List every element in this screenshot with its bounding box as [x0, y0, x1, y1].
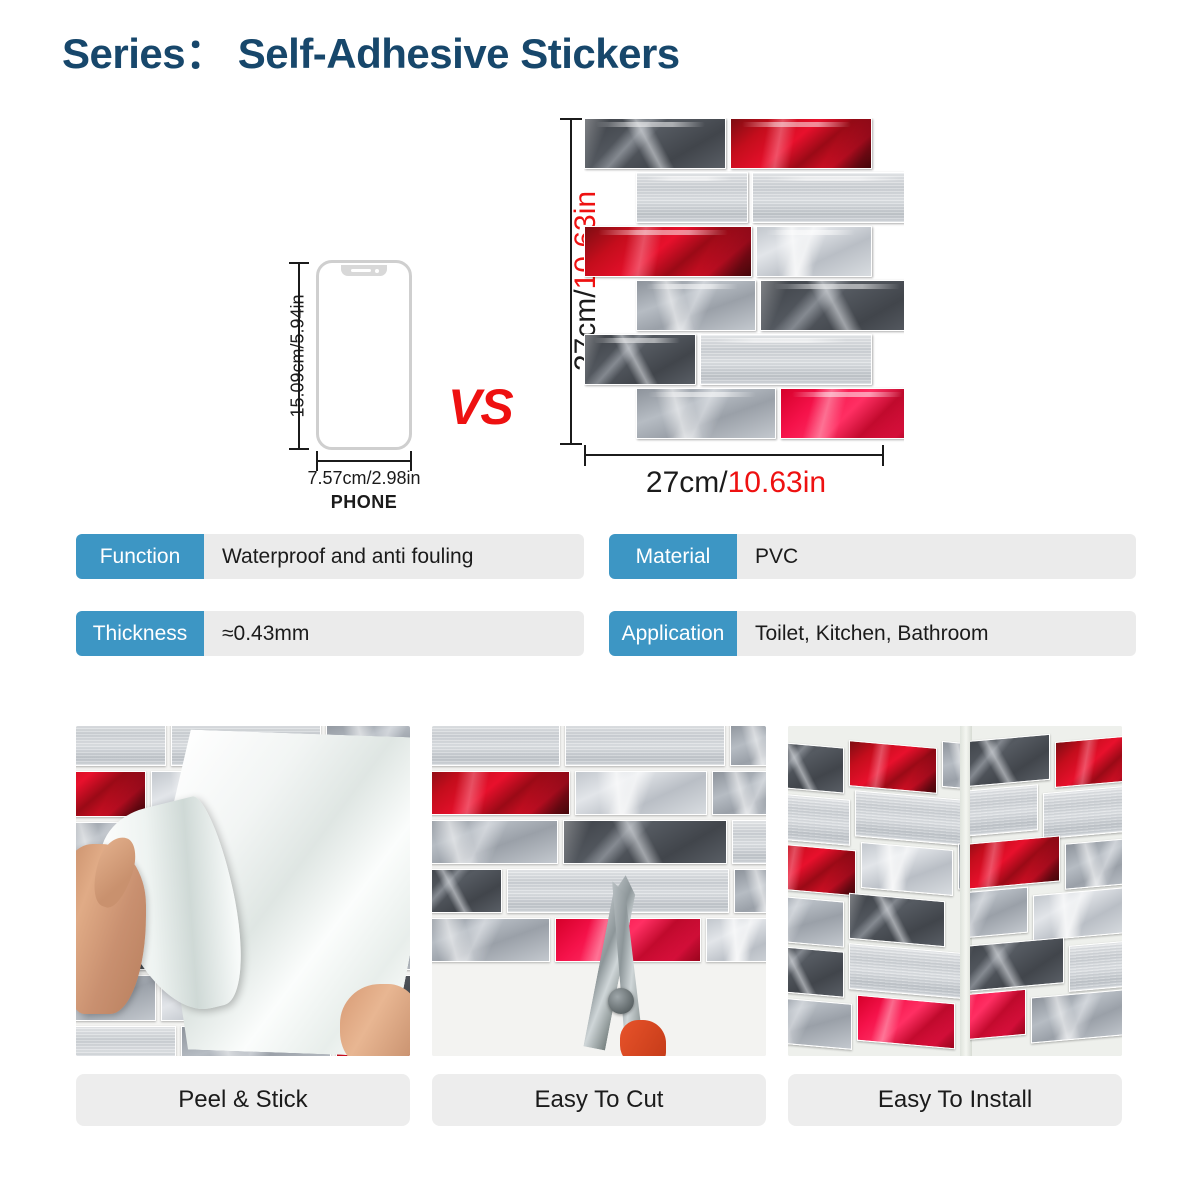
tile-row — [584, 334, 904, 385]
mosaic-tile-darkgray — [760, 280, 904, 331]
spec-value-material: PVC — [737, 534, 1136, 579]
product-infographic-page: Series： Self-Adhesive Stickers 15.09cm/5… — [0, 0, 1200, 1200]
spec-key-thickness: Thickness — [76, 611, 204, 656]
photo3-wall-right — [970, 726, 1122, 1056]
spec-row-thickness: Thickness ≈0.43mm — [76, 611, 584, 656]
phone-width-label: 7.57cm/2.98in — [258, 468, 470, 489]
phone-camera-icon — [375, 269, 379, 273]
mosaic-tile-brightred — [780, 388, 904, 439]
photo-peel-and-stick — [76, 726, 410, 1056]
photo-tile-silver — [565, 726, 725, 766]
mosaic-tile-red — [584, 226, 752, 277]
photo-tile-brightred — [857, 995, 955, 1050]
product-width-cap-right — [882, 445, 884, 466]
spec-key-application: Application — [609, 611, 737, 656]
product-width-cap-left — [584, 445, 586, 466]
product-width-cm: 27cm/ — [646, 466, 728, 499]
photo-tile-lightgray — [706, 918, 766, 962]
photo-tile-silver — [432, 726, 560, 766]
caption-easy-to-cut: Easy To Cut — [432, 1074, 766, 1126]
photo-tile-gray — [712, 771, 766, 815]
product-height-cap-bottom — [560, 443, 582, 445]
phone-height-cap-top — [289, 262, 309, 264]
feature-easy-to-install: Easy To Install — [788, 726, 1122, 1130]
product-width-label: 27cm/10.63in — [566, 466, 906, 500]
mosaic-tile-darkgray — [584, 334, 696, 385]
photo-tile-darkgray — [432, 869, 502, 913]
spec-value-application: Toilet, Kitchen, Bathroom — [737, 611, 1136, 656]
photo-tile-darkgray — [563, 820, 727, 864]
photo-tile-red — [432, 771, 570, 815]
vs-label: VS — [448, 378, 513, 436]
photo-tile-gray — [734, 869, 766, 913]
page-title: Series： Self-Adhesive Stickers — [62, 20, 680, 81]
photo-tile-lightgray — [1033, 887, 1122, 942]
mosaic-tile-silver — [752, 172, 904, 223]
photo-tile-silver — [970, 784, 1038, 839]
photo-tile-gray — [432, 820, 558, 864]
tile-row — [584, 172, 904, 223]
phone-name-label: PHONE — [258, 492, 470, 513]
photo-easy-to-install — [788, 726, 1122, 1056]
mosaic-tile-red — [730, 118, 872, 169]
photo-tile-darkgray — [788, 944, 844, 998]
photo-easy-to-cut — [432, 726, 766, 1056]
photo-tile-silver — [76, 1026, 176, 1056]
phone-speaker-icon — [351, 269, 371, 272]
photo-tile-silver — [1043, 785, 1122, 839]
photo-tile-lightgray — [861, 842, 953, 896]
photo-tile-gray — [432, 918, 550, 962]
spec-value-function: Waterproof and anti fouling — [204, 534, 584, 579]
photo-tile-darkgray — [849, 893, 945, 947]
specifications-table: Function Waterproof and anti fouling Thi… — [76, 534, 1136, 664]
product-width-dimension-line — [584, 454, 884, 456]
size-comparison-section: 15.09cm/5.94in 7.57cm/2.98in PHONE VS 27… — [0, 100, 1200, 500]
product-size-diagram: 27cm/10.63in 27cm/10.63in — [566, 118, 906, 498]
photo-tile-gray — [730, 726, 766, 766]
caption-easy-to-install: Easy To Install — [788, 1074, 1122, 1126]
photo-tile-darkgray — [970, 937, 1064, 993]
phone-notch-icon — [341, 265, 387, 276]
photo-tile-lightgray — [575, 771, 707, 815]
spec-row-function: Function Waterproof and anti fouling — [76, 534, 584, 579]
photo-tile-gray — [1031, 989, 1122, 1044]
tile-row — [584, 118, 904, 169]
mosaic-tile-silver — [700, 334, 872, 385]
photo-tile-silver — [849, 943, 961, 999]
photo-tile-silver — [732, 820, 766, 864]
photo-tile-red — [970, 835, 1060, 890]
photo-tile-gray — [788, 994, 852, 1050]
spec-row-application: Application Toilet, Kitchen, Bathroom — [609, 611, 1136, 656]
photo2-scissors-pivot — [608, 988, 634, 1014]
photo-tile-gray — [970, 887, 1028, 942]
tile-row — [584, 280, 904, 331]
spec-value-thickness: ≈0.43mm — [204, 611, 584, 656]
photo3-wall-left — [788, 726, 964, 1056]
photo-tile-silver — [76, 726, 166, 766]
spec-row-material: Material PVC — [609, 534, 1136, 579]
tile-row — [584, 388, 904, 439]
photo-tile-brightred — [970, 989, 1026, 1043]
feature-peel-and-stick: Peel & Stick — [76, 726, 410, 1130]
product-height-cap-top — [560, 118, 582, 120]
product-width-in: 10.63in — [728, 466, 826, 499]
photo-tile-red — [1055, 734, 1122, 788]
photo-tile-silver — [1069, 938, 1122, 992]
photo-tile-darkgray — [970, 734, 1050, 788]
mosaic-tile-darkgray — [584, 118, 726, 169]
mosaic-tile-lightgray — [756, 226, 872, 277]
photo-tile-red — [849, 740, 937, 794]
spec-key-function: Function — [76, 534, 204, 579]
phone-height-cap-bottom — [289, 448, 309, 450]
feature-photos-section: Peel & Stick Easy To Cut Easy To Install — [76, 726, 1136, 1130]
photo-tile-darkgray — [788, 740, 844, 793]
tile-mosaic-preview — [584, 118, 904, 445]
caption-peel-and-stick: Peel & Stick — [76, 1074, 410, 1126]
feature-easy-to-cut: Easy To Cut — [432, 726, 766, 1130]
phone-outline — [316, 260, 412, 450]
photo-tile-silver — [855, 790, 963, 845]
photo-tile-gray — [1065, 836, 1122, 890]
mosaic-tile-silver — [636, 172, 748, 223]
phone-width-dimension-line — [316, 460, 412, 462]
spec-key-material: Material — [609, 534, 737, 579]
mosaic-tile-gray — [636, 280, 756, 331]
tile-row — [584, 226, 904, 277]
photo-tile-red — [788, 842, 856, 897]
photo-tile-silver — [788, 790, 850, 846]
phone-height-label: 15.09cm/5.94in — [288, 266, 309, 446]
photo-tile-gray — [788, 892, 844, 947]
mosaic-tile-gray — [636, 388, 776, 439]
